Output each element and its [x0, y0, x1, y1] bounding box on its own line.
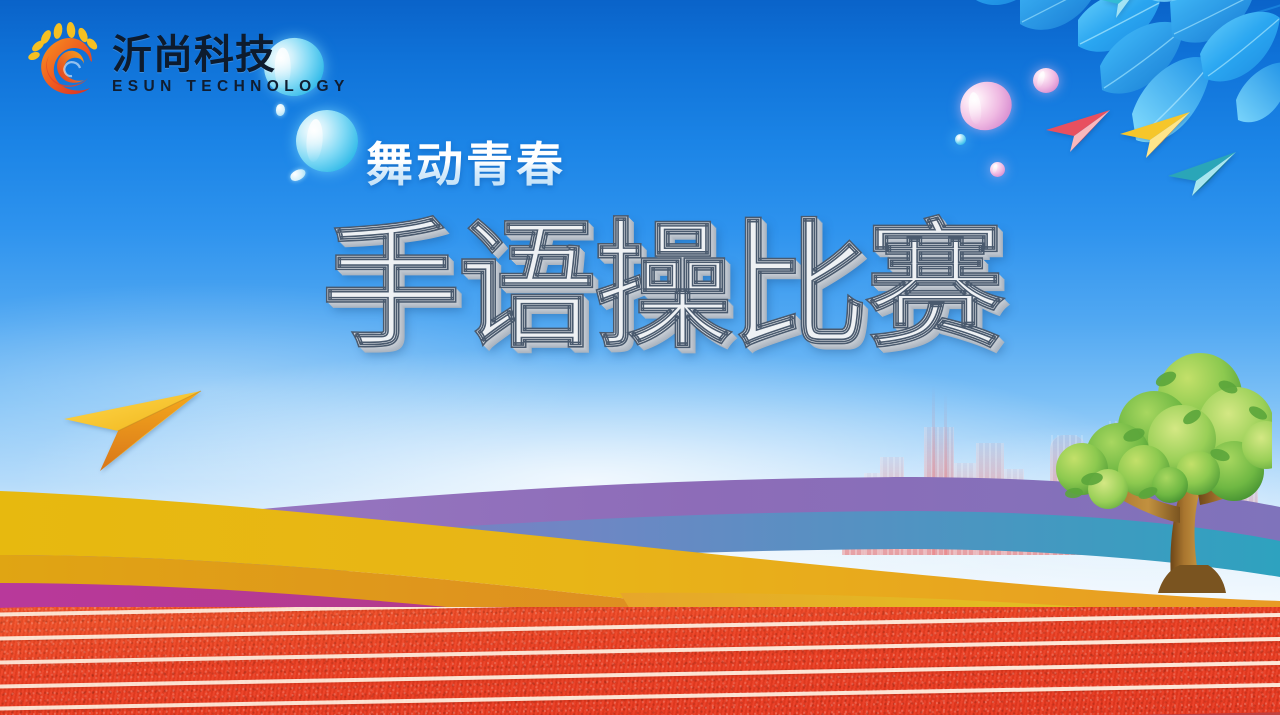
- running-track-icon: [0, 607, 1280, 715]
- poster-subtitle: 舞动青春: [366, 126, 566, 195]
- tree-icon: [1022, 343, 1272, 593]
- esun-swirl-sun-logo-icon: [22, 22, 108, 104]
- pink-bubble-tiny-icon: [990, 162, 1005, 177]
- track-texture: [0, 607, 1280, 715]
- poster-canvas: 沂尚科技 ESUN TECHNOLOGY 舞动青春 手语操比赛: [0, 0, 1280, 715]
- water-drop-icon: [289, 167, 308, 183]
- water-drop-icon: [276, 104, 285, 116]
- cyan-bubble-tiny-icon: [955, 134, 966, 145]
- brand-name-en: ESUN TECHNOLOGY: [112, 79, 350, 95]
- paper-plane-teal-partial-icon: [1100, 0, 1140, 25]
- brand-name-cn: 沂尚科技: [112, 35, 350, 75]
- paper-plane-red-icon: [1044, 108, 1110, 159]
- track-surface: [0, 607, 1280, 715]
- pink-bubble-small-icon: [1033, 68, 1059, 93]
- paper-plane-teal-icon: [1166, 150, 1236, 203]
- brand-logo[interactable]: 沂尚科技 ESUN TECHNOLOGY: [22, 22, 350, 104]
- cyan-bubble-icon: [289, 103, 364, 178]
- poster-title: 手语操比赛: [322, 218, 1002, 356]
